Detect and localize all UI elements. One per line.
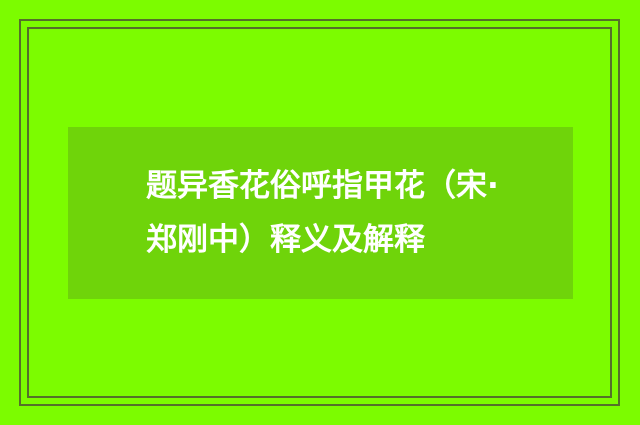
page-title: 题异香花俗呼指甲花（宋·郑刚中）释义及解释 bbox=[146, 159, 506, 267]
title-card: 题异香花俗呼指甲花（宋·郑刚中）释义及解释 bbox=[0, 0, 640, 425]
title-panel: 题异香花俗呼指甲花（宋·郑刚中）释义及解释 bbox=[68, 127, 573, 299]
